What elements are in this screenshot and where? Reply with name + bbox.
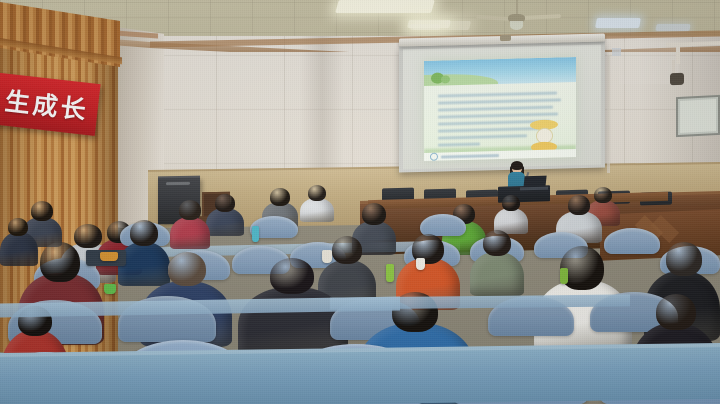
audience-member [470,248,524,292]
ceiling-light-icon [595,18,641,28]
audience-member [170,214,210,246]
cup [322,250,332,263]
audience-head [656,294,696,330]
audience-head [594,187,612,203]
audience-head [568,195,590,215]
banner-text: 生成长 [0,72,101,136]
audience-head [179,200,201,220]
screen-pull-knob[interactable] [500,35,511,41]
projected-slide [424,57,576,161]
audience-member [206,206,244,234]
audience-head [270,258,314,294]
wall-conduit [676,44,680,64]
cabinet-highlight [166,182,190,185]
audience-torso [470,252,524,296]
wall-speaker-icon [670,73,684,85]
auditorium-seat [420,214,466,236]
audience-head [130,220,158,246]
audience-head [168,252,206,286]
cup [100,252,118,261]
water-bottle [560,268,568,284]
ceiling-light-icon [335,0,435,13]
ceiling-light-icon [410,24,440,30]
water-bottle [386,264,394,282]
audience-member [0,230,38,264]
audience-head [31,201,53,221]
audience-torso [206,208,244,236]
audience-head [502,195,520,211]
audience-head [483,230,511,256]
slide-mascot-icon [528,119,558,152]
presenter-hair [511,161,523,170]
audience-torso [300,198,334,222]
wall-mark [612,48,621,56]
auditorium-seat [604,228,660,254]
ceiling-light-icon [655,24,690,31]
audience-torso [0,232,38,266]
water-bottle [252,226,259,242]
audience-head [362,203,386,225]
cup [416,258,425,270]
slide-logo-text [441,154,499,159]
cup [104,284,116,294]
audience-head [270,188,290,206]
audience-member [494,206,528,232]
audience-head [332,236,362,264]
front-desk [0,347,720,404]
audience-member [300,196,334,220]
speaker-bracket [672,60,675,74]
wall-board-surface [680,99,716,133]
wall-cable [607,55,610,173]
audience-head [215,194,235,212]
audience-torso [170,217,210,249]
audience-head [40,242,80,282]
ceiling-fan-lamp [510,21,523,30]
audience-head [308,185,326,201]
audience-head [8,218,28,236]
lecture-hall-photo: 生成长 [0,0,720,404]
slide-logo-icon [430,153,438,161]
audience-head [666,242,702,276]
